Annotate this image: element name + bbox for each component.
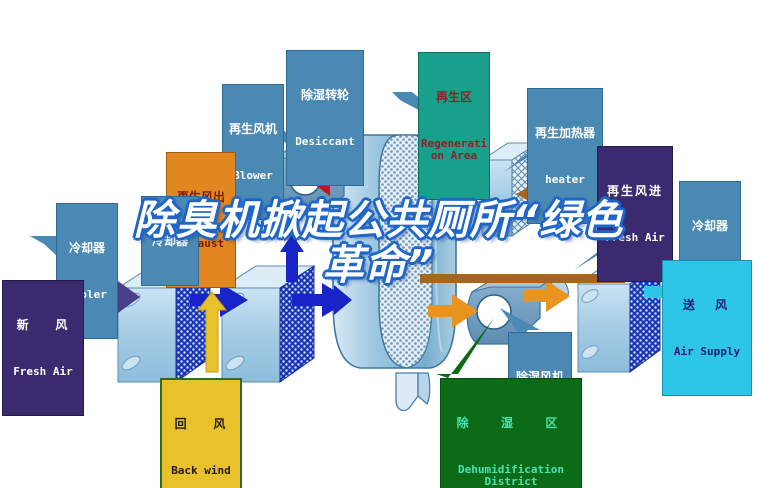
diagram-canvas: 除湿转轮 Desiccant 再生风机 Blower 再生区 Regenerat… [0, 0, 757, 488]
label-fresh-air-in-en: Fresh Air [5, 366, 81, 378]
label-regeneration-area-cn: 再生区 [421, 91, 487, 104]
label-air-supply-cn: 送 风 [665, 299, 749, 312]
label-air-supply-en: Air Supply [665, 346, 749, 358]
label-fresh-air-in[interactable]: 新 风 Fresh Air [2, 280, 84, 416]
label-cooler-left-2-cn: 冷却器 [144, 235, 196, 248]
label-regen-heater[interactable]: 再生加热器 heater [527, 88, 603, 224]
label-regen-blower-cn: 再生风机 [225, 123, 281, 136]
label-air-supply[interactable]: 送 风 Air Supply [662, 260, 752, 396]
label-regen-fresh-air-cn: 再生风进 [600, 185, 670, 198]
label-desiccant[interactable]: 除湿转轮 Desiccant [286, 50, 364, 186]
label-cooler-right-cn: 冷却器 [682, 220, 738, 233]
label-dehumidification-district-cn: 除 湿 区 [443, 417, 579, 430]
label-dehumidification-district-en: Dehumidification District [443, 464, 579, 488]
label-back-wind[interactable]: 回 风 Back wind [160, 378, 242, 488]
label-regen-fresh-air-en: Fresh Air [600, 232, 670, 244]
label-fresh-air-in-cn: 新 风 [5, 319, 81, 332]
label-desiccant-en: Desiccant [289, 136, 361, 148]
label-dehumidification-district[interactable]: 除 湿 区 Dehumidification District [440, 378, 582, 488]
label-cooler-left-2[interactable]: 冷却器 [141, 196, 199, 286]
label-cooler-left-1-cn: 冷却器 [59, 242, 115, 255]
label-regen-heater-cn: 再生加热器 [530, 127, 600, 140]
label-back-wind-cn: 回 风 [164, 418, 238, 431]
label-back-wind-en: Back wind [164, 465, 238, 477]
label-regeneration-area[interactable]: 再生区 Regenerati on Area [418, 52, 490, 200]
label-regen-heater-en: heater [530, 174, 600, 186]
label-regeneration-area-en: Regenerati on Area [421, 138, 487, 162]
drain-pan [396, 373, 430, 411]
label-desiccant-cn: 除湿转轮 [289, 89, 361, 102]
